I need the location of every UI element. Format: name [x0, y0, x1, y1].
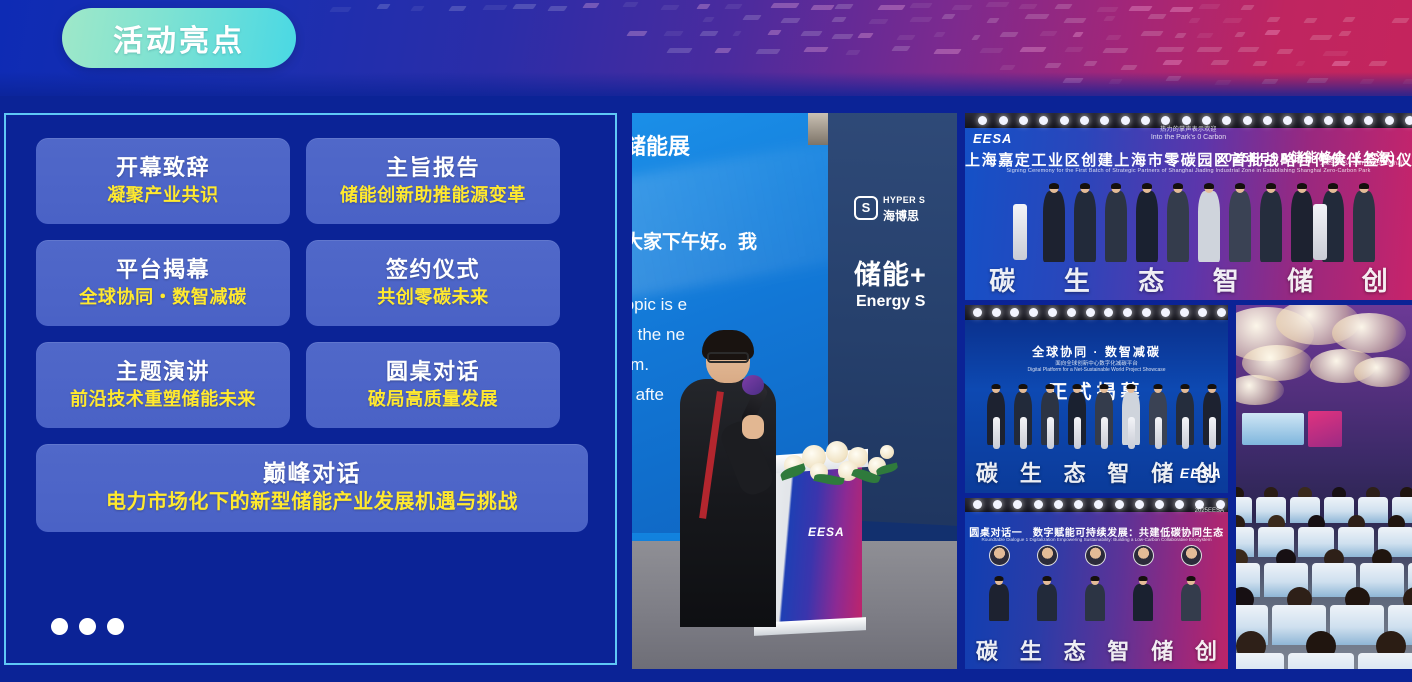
panelist-headshot — [1181, 545, 1202, 566]
screen-line-4: tem. — [632, 355, 649, 375]
panelist-headshot — [1085, 545, 1106, 566]
person-hair — [1266, 183, 1276, 189]
calligraphy-character: 智 — [1107, 456, 1129, 488]
person-figure — [1167, 184, 1189, 262]
highlight-card-title: 平台揭幕 — [116, 257, 210, 283]
screen-line-1: 大家下午好。我 — [632, 227, 757, 254]
person-hair — [1181, 384, 1190, 389]
truss-lamp — [1029, 308, 1038, 317]
person-body — [1037, 584, 1057, 621]
speaker-torso — [680, 379, 776, 627]
truss-lamp — [993, 500, 1002, 509]
person-hair — [1019, 384, 1028, 389]
background-dash — [986, 18, 999, 23]
background-dash — [1222, 18, 1243, 23]
person-figure — [1074, 184, 1096, 262]
signing-banner-cn: 上海嘉定工业区创建上海市零碳园区首批战略合作伙伴签约仪式 — [965, 149, 1412, 170]
highlight-card[interactable]: 签约仪式共创零碳未来 — [306, 240, 560, 326]
background-dash — [512, 4, 537, 9]
background-dash — [377, 4, 391, 9]
background-dash — [1039, 31, 1057, 36]
background-dash — [1391, 18, 1409, 23]
background-dash — [622, 2, 638, 7]
background-dash — [1198, 4, 1220, 9]
background-dash — [483, 5, 509, 10]
highlights-panel: 开幕致辞凝聚产业共识主旨报告储能创新助推能源变革平台揭幕全球协同・数智减碳签约仪… — [4, 113, 617, 665]
background-dash — [1096, 7, 1118, 12]
person-body — [1167, 191, 1189, 262]
background-dash — [448, 6, 467, 11]
truss-lamp — [1086, 308, 1095, 317]
truss-lamp — [1155, 500, 1164, 509]
calligraphy-character: 生 — [1020, 634, 1042, 666]
background-dash — [1044, 63, 1062, 68]
background-dash — [1343, 17, 1356, 22]
audience-chair — [1358, 653, 1412, 669]
calligraphy-character: 储 — [1151, 634, 1173, 666]
backdrop-headline-en: Energy S — [856, 293, 925, 311]
highlight-card-subtitle: 储能创新助推能源变革 — [340, 183, 526, 207]
highlight-card[interactable]: 平台揭幕全球协同・数智减碳 — [36, 240, 290, 326]
person-body — [989, 584, 1009, 621]
chandelier — [1354, 357, 1410, 387]
background-dash — [1024, 14, 1049, 19]
person-body — [1136, 191, 1158, 262]
person-figure — [1105, 184, 1127, 262]
background-dash — [547, 6, 567, 11]
background-dash — [703, 17, 715, 22]
microphone-head — [742, 375, 764, 395]
person-hair — [1139, 576, 1148, 581]
calligraphy-character: 储 — [1151, 456, 1173, 488]
photo-gallery: 储能展 大家下午好。我 topic is e ng the ne tem. od… — [632, 113, 1412, 669]
calligraphy-character: 碳 — [989, 261, 1015, 298]
truss-lamp — [1104, 308, 1113, 317]
background-dash — [941, 14, 955, 19]
background-dash — [1162, 60, 1183, 65]
photo-keynote-speaker[interactable]: 储能展 大家下午好。我 topic is e ng the ne tem. od… — [632, 113, 957, 669]
background-dash — [1102, 48, 1128, 53]
panelist-headshot — [989, 545, 1010, 566]
person-figure — [1229, 184, 1251, 262]
panelist-headshot — [1037, 545, 1058, 566]
person-hair — [1100, 384, 1109, 389]
background-dash — [666, 48, 693, 53]
background-dash — [1065, 47, 1084, 52]
sponsor-logo-text: HYPER S 海博思 — [883, 191, 925, 225]
background-dash — [1083, 61, 1097, 66]
truss-lamp — [1123, 308, 1132, 317]
display-pedestal — [1209, 417, 1216, 449]
background-dash — [804, 47, 829, 52]
audience-chair — [1288, 653, 1354, 669]
flower-bloom — [826, 441, 848, 463]
hyper-s-mark-icon: S — [854, 196, 878, 220]
background-dash — [1304, 18, 1318, 23]
background-dash — [1019, 47, 1047, 52]
display-pedestal — [1020, 417, 1027, 449]
photo-audience-hall[interactable] — [1236, 305, 1412, 669]
display-pedestal — [1128, 417, 1135, 449]
background-dash — [868, 19, 888, 24]
background-dash — [832, 17, 847, 22]
flower-arrangement — [780, 437, 908, 497]
background-dash — [1368, 61, 1388, 66]
background-dash — [999, 65, 1015, 70]
background-dash — [724, 4, 743, 9]
highlight-card-subtitle: 全球协同・数智减碳 — [79, 285, 246, 309]
background-dash — [1331, 61, 1350, 66]
background-dash — [909, 3, 933, 8]
background-dash — [810, 5, 835, 10]
background-dash — [1103, 16, 1116, 21]
speaker-figure — [674, 335, 780, 627]
person-body — [1291, 191, 1313, 262]
truss-lamp — [1198, 308, 1207, 317]
background-dash — [1237, 47, 1260, 52]
calligraphy-character: 态 — [1064, 634, 1086, 666]
person-hair — [1049, 183, 1059, 189]
background-dash — [715, 48, 732, 53]
background-dash — [582, 3, 600, 8]
background-dash — [1148, 14, 1167, 19]
person-figure — [1181, 577, 1201, 621]
background-dash — [971, 35, 981, 40]
calligraphy-character: 生 — [1064, 261, 1090, 298]
person-hair — [1359, 183, 1369, 189]
background-fade-band — [0, 72, 1412, 112]
photo-roundtable-dialogue[interactable]: 圆桌对话一 数字赋能可持续发展：共建低碳协同生态 Roundtable Dial… — [965, 498, 1228, 669]
person-body — [1229, 191, 1251, 262]
section-title-badge: 活动亮点 — [62, 8, 296, 68]
person-hair — [1127, 384, 1136, 389]
person-hair — [1297, 183, 1307, 189]
background-dash — [1019, 4, 1038, 9]
background-dash — [845, 50, 861, 55]
audience-chair — [1236, 653, 1284, 669]
background-dash — [699, 31, 719, 36]
background-dash — [877, 5, 906, 10]
display-pedestal — [1013, 204, 1027, 260]
person-figure — [989, 577, 1009, 621]
sponsor-logo: S HYPER S 海博思 — [854, 191, 925, 225]
background-dash — [951, 5, 972, 10]
background-dash — [1054, 4, 1073, 9]
truss-lamp — [1180, 308, 1189, 317]
truss-lamp — [1161, 308, 1170, 317]
calligraphy-character: 态 — [1138, 261, 1164, 298]
background-dash — [410, 6, 424, 11]
person-figure — [1133, 577, 1153, 621]
background-dash — [1197, 33, 1214, 38]
calligraphy-character: 态 — [1064, 456, 1086, 488]
display-pedestal — [1313, 204, 1327, 260]
background-dash — [743, 15, 763, 20]
pagination-dot[interactable] — [79, 618, 96, 635]
screen-heading: 储能展 — [632, 129, 690, 161]
background-dash — [660, 5, 679, 10]
pagination-dot[interactable] — [107, 618, 124, 635]
background-dash — [1235, 32, 1246, 37]
background-dash — [1309, 35, 1332, 40]
background-dash — [1196, 47, 1223, 52]
person-figure — [1043, 184, 1065, 262]
person-body — [1198, 191, 1220, 262]
display-pedestal — [1074, 417, 1081, 449]
background-dash — [934, 49, 962, 54]
person-hair — [1235, 183, 1245, 189]
highlight-card-title: 巅峰对话 — [263, 460, 361, 488]
calligraphy-character: 智 — [1213, 261, 1239, 298]
calligraphy-character: 创 — [1362, 261, 1388, 298]
backdrop-headline-cn: 储能+ — [854, 253, 927, 292]
background-dash — [1155, 47, 1184, 52]
background-dash — [1072, 32, 1083, 37]
calligraphy-character: 碳 — [976, 456, 998, 488]
background-dash — [330, 7, 353, 12]
person-hair — [1328, 183, 1338, 189]
background-dash — [1252, 61, 1268, 66]
display-pedestal — [1047, 417, 1054, 449]
truss-lamp — [1010, 308, 1019, 317]
person-figure — [1260, 184, 1282, 262]
background-dash — [697, 4, 711, 9]
background-dash — [1106, 35, 1123, 40]
background-dash — [832, 34, 855, 39]
sponsor-name-cn: 海博思 — [883, 209, 919, 223]
far-stage-poster — [1308, 411, 1342, 447]
highlight-card-list: 开幕致辞凝聚产业共识主旨报告储能创新助推能源变革平台揭幕全球协同・数智减碳签约仪… — [36, 138, 588, 532]
background-dash — [770, 3, 799, 8]
background-dash — [1174, 33, 1186, 38]
background-dash — [801, 31, 823, 36]
person-hair — [1043, 576, 1052, 581]
person-body — [1105, 191, 1127, 262]
background-dash — [891, 46, 911, 51]
truss-lamp — [1054, 500, 1063, 509]
audience-chair — [1330, 605, 1384, 645]
background-dash — [857, 33, 874, 38]
far-stage-screen — [1242, 413, 1304, 445]
slide-canvas: 活动亮点 开幕致辞凝聚产业共识主旨报告储能创新助推能源变革平台揭幕全球协同・数智… — [0, 0, 1412, 682]
background-dash — [1210, 60, 1229, 65]
highlight-card[interactable]: 主题演讲前沿技术重塑储能未来 — [36, 342, 290, 428]
display-pedestal — [1182, 417, 1189, 449]
person-figure — [1198, 184, 1220, 262]
unveil-banner-cn: 全球协同 · 数智减碳 — [965, 343, 1228, 360]
person-hair — [1142, 183, 1152, 189]
background-dash — [732, 31, 742, 36]
lighting-truss-roundtable — [965, 498, 1228, 512]
flower-bloom — [880, 445, 894, 459]
chandelier — [1332, 313, 1406, 353]
person-figure — [1085, 577, 1105, 621]
calligraphy-character: 智 — [1107, 634, 1129, 666]
highlight-card-title: 开幕致辞 — [116, 155, 210, 181]
highlight-card[interactable]: 开幕致辞凝聚产业共识 — [36, 138, 290, 224]
background-dash — [933, 32, 946, 37]
background-dash — [767, 30, 781, 35]
person-body — [1181, 584, 1201, 621]
speaker-hand — [742, 415, 764, 439]
background-dash — [1120, 65, 1138, 70]
person-hair — [1154, 384, 1163, 389]
truss-lamp — [1135, 500, 1144, 509]
truss-lamp — [1067, 308, 1076, 317]
screen-line-5: od afte — [632, 385, 664, 405]
background-dash — [780, 18, 800, 23]
background-dash — [1338, 31, 1351, 36]
signing-banner-en: Signing Ceremony for the First Batch of … — [965, 168, 1412, 174]
highlight-card[interactable]: 主旨报告储能创新助推能源变革 — [306, 138, 560, 224]
truss-lamp — [973, 308, 982, 317]
person-hair — [1208, 384, 1217, 389]
background-dash — [1322, 51, 1348, 56]
photo-platform-unveiling[interactable]: 全球协同 · 数智减碳 面向全球创新中心数字化减碳平台 Digital Plat… — [965, 305, 1228, 493]
person-hair — [1173, 183, 1183, 189]
signing-top-tag-cn: 热力的掌声表示欢迎 — [965, 124, 1412, 133]
highlight-card-title: 主旨报告 — [386, 155, 480, 181]
background-dash — [1063, 18, 1086, 23]
photo-signing-ceremony[interactable]: EESA 热力的掌声表示欢迎 Into the Park's 0 Carbon … — [965, 113, 1412, 300]
background-dash — [1128, 6, 1152, 11]
background-dash — [1188, 18, 1200, 23]
highlight-card-subtitle: 电力市场化下的新型储能产业发展机遇与挑战 — [106, 489, 518, 516]
background-dash — [1241, 5, 1255, 10]
person-hair — [1187, 576, 1196, 581]
calligraphy-character: 碳 — [976, 634, 998, 666]
sponsor-name-en: HYPER S — [883, 195, 925, 205]
calligraphy-character: 创 — [1195, 634, 1217, 666]
lighting-truss-unveil — [965, 305, 1228, 320]
background-dash — [755, 49, 780, 54]
truss-lamp — [1175, 500, 1184, 509]
eesa-watermark-unveil: EESA — [1180, 465, 1222, 481]
calligraphy-character: 生 — [1020, 456, 1042, 488]
background-dash — [1264, 30, 1281, 35]
person-hair — [992, 384, 1001, 389]
background-dash — [896, 35, 915, 40]
person-figure — [1136, 184, 1158, 262]
person-hair — [1204, 183, 1214, 189]
truss-lamp — [1115, 500, 1124, 509]
roundtable-summit-tag: 2025EESA — [1195, 508, 1224, 514]
highlight-card[interactable]: 圆桌对话破局高质量发展 — [306, 342, 560, 428]
background-dash — [999, 32, 1018, 37]
person-hair — [1080, 183, 1090, 189]
highlight-card-subtitle: 共创零碳未来 — [377, 285, 489, 309]
person-hair — [1111, 183, 1121, 189]
truss-lamp — [1013, 500, 1022, 509]
display-pedestal — [1155, 417, 1162, 449]
truss-lamp — [973, 500, 982, 509]
person-body — [1353, 191, 1375, 262]
roundtable-banner-en: Roundtable Dialogue 1 Digitalization Emp… — [965, 537, 1228, 542]
background-dash — [910, 17, 933, 22]
unveil-banner-sub-cn: 面向全球创新中心数字化减碳平台 — [965, 359, 1228, 367]
background-dash — [986, 2, 1011, 7]
person-body — [1074, 191, 1096, 262]
person-figure — [1037, 577, 1057, 621]
background-dash — [664, 31, 684, 36]
background-dash — [1277, 49, 1294, 54]
pagination-dot[interactable] — [51, 618, 68, 635]
background-dash — [980, 48, 1004, 53]
person-body — [1133, 584, 1153, 621]
truss-lamp — [1217, 308, 1226, 317]
person-body — [1085, 584, 1105, 621]
person-hair — [995, 576, 1004, 581]
highlight-card-title: 圆桌对话 — [386, 359, 480, 385]
podium-logo-text: EESA — [808, 525, 845, 539]
highlight-card-subtitle: 凝聚产业共识 — [107, 183, 219, 207]
signing-top-tag-en: Into the Park's 0 Carbon — [965, 134, 1412, 141]
speaker-glasses-icon — [707, 352, 749, 363]
screen-line-2: topic is e — [632, 295, 687, 315]
person-hair — [1046, 384, 1055, 389]
display-pedestal — [1101, 417, 1108, 449]
person-hair — [1073, 384, 1082, 389]
person-figure — [1291, 184, 1313, 262]
display-pedestal — [993, 417, 1000, 449]
calligraphy-row-signing: 碳生态智储创 — [965, 259, 1412, 300]
highlight-card-title: 签约仪式 — [386, 257, 480, 283]
panelist-headshot — [1133, 545, 1154, 566]
audience-chair — [1338, 527, 1374, 557]
truss-lamp — [992, 308, 1001, 317]
highlight-card-subtitle: 前沿技术重塑储能未来 — [70, 387, 256, 411]
section-title-text: 活动亮点 — [113, 16, 245, 60]
person-hair — [1091, 576, 1100, 581]
truss-lamp — [1034, 500, 1043, 509]
background-dash — [1295, 61, 1306, 66]
highlight-card-title: 主题演讲 — [116, 359, 210, 385]
background-dash — [834, 4, 853, 9]
person-body — [1043, 191, 1065, 262]
person-body — [1260, 191, 1282, 262]
background-dash — [1140, 31, 1163, 36]
highlight-card-subtitle: 破局高质量发展 — [368, 387, 498, 411]
truss-lamp — [1142, 308, 1151, 317]
person-figure — [1353, 184, 1375, 262]
truss-lamp — [1074, 500, 1083, 509]
calligraphy-row-roundtable: 碳生态智储创 — [965, 631, 1228, 669]
pagination-dots[interactable] — [51, 618, 124, 635]
calligraphy-character: 储 — [1287, 261, 1313, 298]
truss-lamp — [1094, 500, 1103, 509]
background-dash — [1266, 17, 1280, 22]
background-dash — [1169, 7, 1193, 12]
highlight-card[interactable]: 巅峰对话电力市场化下的新型储能产业发展机遇与挑战 — [36, 444, 588, 532]
unveil-banner-sub-en: Digital Platform for a Net-Sustainable W… — [965, 367, 1228, 373]
truss-lamp — [1048, 308, 1057, 317]
background-dash — [626, 31, 648, 36]
